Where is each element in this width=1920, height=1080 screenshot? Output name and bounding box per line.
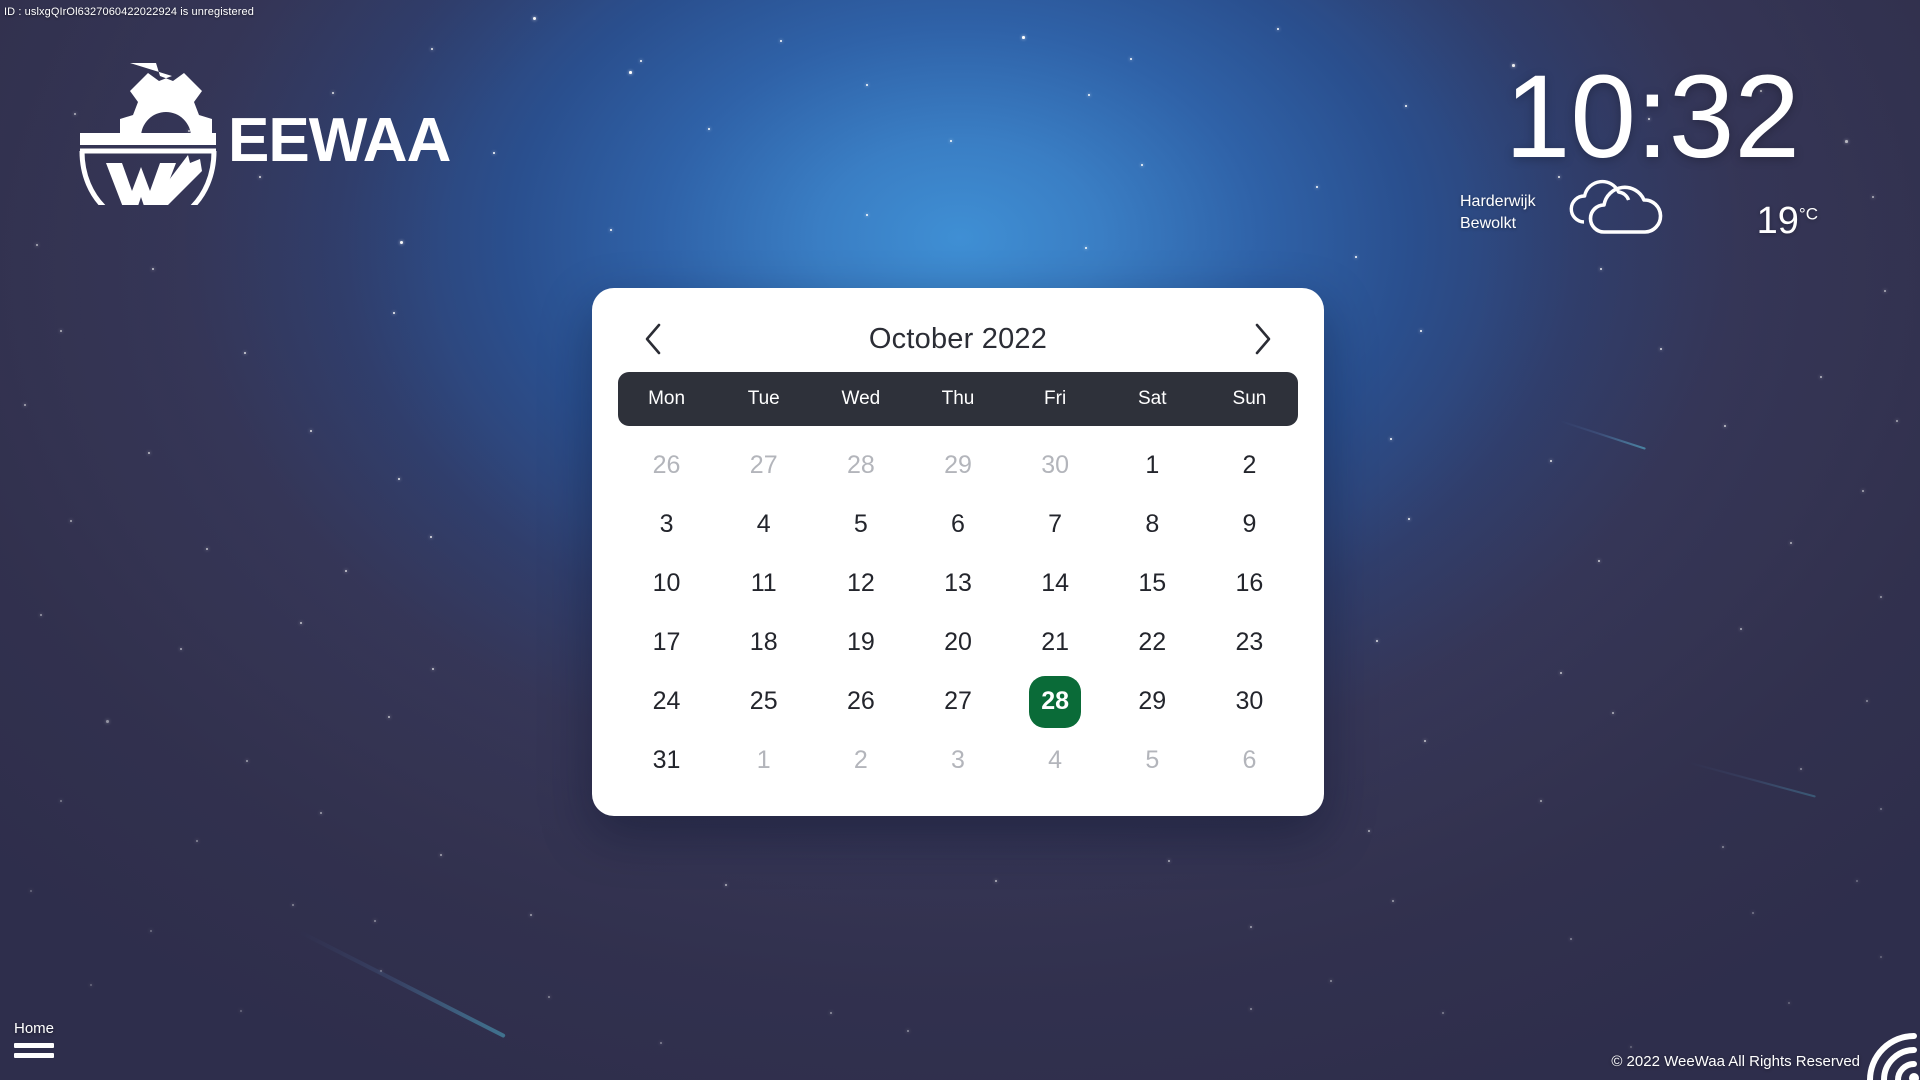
calendar-day-label: 14 (1029, 558, 1081, 610)
calendar-day-label: 26 (641, 440, 693, 492)
calendar-day-label: 29 (1126, 676, 1178, 728)
chevron-right-icon (1252, 322, 1274, 356)
shooting-star (1690, 762, 1816, 798)
weekday-sat: Sat (1104, 388, 1201, 410)
weekday-wed: Wed (812, 388, 909, 410)
star (152, 268, 154, 270)
star (320, 812, 322, 814)
registration-notice: ID : uslxgQIrOl6327060422022924 is unreg… (4, 6, 254, 18)
star (180, 648, 182, 650)
calendar-day-label: 30 (1029, 440, 1081, 492)
calendar-day[interactable]: 3 (909, 731, 1006, 790)
calendar-day[interactable]: 7 (1007, 495, 1104, 554)
star (431, 48, 433, 50)
star (1845, 140, 1848, 143)
star (1740, 628, 1742, 630)
brand-logo: EEWAA (68, 55, 450, 205)
calendar-day-label: 31 (641, 735, 693, 787)
calendar-day[interactable]: 2 (1201, 436, 1298, 495)
star (629, 71, 632, 74)
star (1368, 830, 1370, 832)
star (1660, 348, 1662, 350)
star (1330, 980, 1332, 982)
star (548, 996, 550, 998)
calendar-day-label: 15 (1126, 558, 1178, 610)
star (432, 668, 434, 670)
copyright-text: © 2022 WeeWaa All Rights Reserved (1611, 1053, 1860, 1070)
star (1355, 256, 1357, 258)
star (907, 1030, 909, 1032)
clock-weather-widget: 10:32 Harderwijk Bewolkt 19°C (1460, 58, 1800, 260)
calendar-day[interactable]: 4 (1007, 731, 1104, 790)
star (950, 140, 952, 142)
star (1088, 94, 1090, 96)
calendar-day-label: 8 (1126, 499, 1178, 551)
calendar-day-label: 10 (641, 558, 693, 610)
star (1316, 186, 1318, 188)
calendar-day-label: 2 (1223, 440, 1275, 492)
star (400, 241, 403, 244)
star (1390, 438, 1392, 440)
star (610, 229, 612, 231)
calendar-weekday-header: MonTueWedThuFriSatSun (618, 372, 1298, 426)
calendar-day[interactable]: 20 (909, 613, 1006, 672)
calendar-day[interactable]: 17 (618, 613, 715, 672)
calendar-day[interactable]: 30 (1201, 672, 1298, 731)
calendar-day-label: 5 (835, 499, 887, 551)
calendar-day[interactable]: 18 (715, 613, 812, 672)
star (374, 920, 376, 922)
star (90, 984, 92, 986)
calendar-day[interactable]: 10 (618, 554, 715, 613)
calendar-day[interactable]: 29 (1104, 672, 1201, 731)
star (1790, 542, 1792, 544)
star (493, 152, 495, 154)
weekday-mon: Mon (618, 388, 715, 410)
star (1376, 640, 1378, 642)
calendar-day-label: 16 (1223, 558, 1275, 610)
star (1141, 164, 1143, 166)
calendar-day-label: 1 (1126, 440, 1178, 492)
calendar-day-label: 30 (1223, 676, 1275, 728)
calendar-day[interactable]: 16 (1201, 554, 1298, 613)
calendar-day-grid: 2627282930123456789101112131415161718192… (618, 436, 1298, 790)
calendar-day[interactable]: 5 (1104, 731, 1201, 790)
star (393, 312, 395, 314)
calendar-day-label: 28 (835, 440, 887, 492)
calendar-day-label: 1 (738, 735, 790, 787)
calendar-day[interactable]: 6 (1201, 731, 1298, 790)
calendar-day[interactable]: 15 (1104, 554, 1201, 613)
star (244, 352, 246, 354)
wifi-dot (1909, 1073, 1919, 1080)
temperature-unit: °C (1799, 204, 1818, 223)
star (1884, 290, 1886, 292)
star (1560, 672, 1562, 674)
menu-bar-line-1 (14, 1043, 54, 1048)
star (1022, 36, 1025, 39)
star (310, 430, 312, 432)
star (36, 244, 38, 246)
star (388, 716, 390, 718)
star (398, 478, 400, 480)
menu-bar-line-2 (14, 1053, 54, 1058)
clock-time: 10:32 (1460, 58, 1800, 176)
brand-wordmark: EEWAA (228, 110, 450, 172)
calendar-day[interactable]: 14 (1007, 554, 1104, 613)
star (1896, 420, 1898, 422)
calendar-day-label: 6 (1223, 735, 1275, 787)
star (1392, 900, 1394, 902)
star (1550, 460, 1552, 462)
calendar-day[interactable]: 26 (618, 436, 715, 495)
calendar-next-month-button[interactable] (1242, 318, 1284, 360)
calendar-day-label: 24 (641, 676, 693, 728)
calendar-day[interactable]: 25 (715, 672, 812, 731)
star (660, 1042, 662, 1044)
calendar-title: October 2022 (869, 323, 1047, 356)
shooting-star (1560, 420, 1646, 450)
star (1598, 560, 1600, 562)
calendar-day[interactable]: 6 (909, 495, 1006, 554)
star (1880, 596, 1882, 598)
home-menu-button[interactable]: Home (14, 1019, 54, 1059)
star (1866, 700, 1868, 702)
calendar-day-label: 6 (932, 499, 984, 551)
star (150, 930, 152, 932)
weewaa-gear-logo-icon (68, 55, 228, 205)
temperature-value: 19 (1757, 200, 1799, 242)
calendar-day[interactable]: 5 (812, 495, 909, 554)
calendar-prev-month-button[interactable] (632, 318, 674, 360)
calendar-day[interactable]: 22 (1104, 613, 1201, 672)
calendar-day[interactable]: 12 (812, 554, 909, 613)
star (1442, 1012, 1444, 1014)
calendar-day[interactable]: 21 (1007, 613, 1104, 672)
calendar-day-label: 23 (1223, 617, 1275, 669)
calendar-day-label: 12 (835, 558, 887, 610)
star (300, 622, 302, 624)
star (780, 40, 782, 42)
calendar-day-label: 21 (1029, 617, 1081, 669)
calendar-day-label: 4 (738, 499, 790, 551)
star (1752, 912, 1754, 914)
calendar-day-selected[interactable]: 28 (1007, 672, 1104, 731)
calendar-day[interactable]: 13 (909, 554, 1006, 613)
star (40, 614, 42, 616)
calendar-day-label: 9 (1223, 499, 1275, 551)
star (1168, 860, 1170, 862)
calendar-day[interactable]: 27 (715, 436, 812, 495)
calendar-day-label: 28 (1029, 676, 1081, 728)
calendar-day[interactable]: 19 (812, 613, 909, 672)
calendar-day-label: 5 (1126, 735, 1178, 787)
weather-temperature: 19°C (1757, 200, 1818, 243)
calendar-day-label: 25 (738, 676, 790, 728)
weekday-tue: Tue (715, 388, 812, 410)
wifi-signal-icon[interactable] (1862, 1028, 1920, 1080)
calendar-day[interactable]: 30 (1007, 436, 1104, 495)
star (1800, 768, 1802, 770)
star (1788, 1002, 1790, 1004)
calendar-day-label: 18 (738, 617, 790, 669)
cloudy-icon (1566, 164, 1674, 244)
star (640, 60, 642, 62)
calendar-day[interactable]: 11 (715, 554, 812, 613)
star (24, 404, 26, 406)
star (533, 17, 536, 20)
star (1540, 800, 1542, 802)
calendar-day[interactable]: 2 (812, 731, 909, 790)
calendar-day-label: 20 (932, 617, 984, 669)
star (440, 854, 442, 856)
star (1277, 28, 1279, 30)
star (206, 548, 208, 550)
star (1612, 712, 1614, 714)
calendar-day-label: 29 (932, 440, 984, 492)
star (1420, 330, 1422, 332)
star (866, 84, 868, 86)
star (60, 800, 62, 802)
star (1424, 740, 1426, 742)
calendar-day[interactable]: 3 (618, 495, 715, 554)
star (708, 128, 710, 130)
calendar-day-label: 11 (738, 558, 790, 610)
calendar-day-label: 17 (641, 617, 693, 669)
calendar-day[interactable]: 26 (812, 672, 909, 731)
weather-condition: Bewolkt (1460, 212, 1516, 237)
star (1408, 518, 1410, 520)
star (1630, 1046, 1632, 1048)
star (995, 880, 997, 882)
calendar-day-label: 19 (835, 617, 887, 669)
star (30, 890, 32, 892)
calendar-day[interactable]: 29 (909, 436, 1006, 495)
star (70, 520, 72, 522)
calendar-day-label: 27 (738, 440, 790, 492)
calendar-card: October 2022 MonTueWedThuFriSatSun 26272… (592, 288, 1324, 816)
calendar-day-label: 22 (1126, 617, 1178, 669)
star (1250, 1008, 1252, 1010)
calendar-day[interactable]: 31 (618, 731, 715, 790)
calendar-day[interactable]: 8 (1104, 495, 1201, 554)
weather-row: Harderwijk Bewolkt 19°C (1460, 182, 1800, 260)
star (1570, 938, 1572, 940)
calendar-day[interactable]: 24 (618, 672, 715, 731)
star (1724, 425, 1726, 427)
calendar-day[interactable]: 27 (909, 672, 1006, 731)
star (1085, 247, 1087, 249)
star (430, 536, 432, 538)
star (1872, 196, 1874, 198)
star (196, 840, 198, 842)
calendar-day-label: 2 (835, 735, 887, 787)
calendar-day[interactable]: 1 (715, 731, 812, 790)
star (292, 904, 294, 906)
weekday-thu: Thu (909, 388, 1006, 410)
star (1856, 880, 1858, 882)
star (830, 1012, 832, 1014)
star (1405, 105, 1407, 107)
star (1250, 926, 1252, 928)
star (148, 452, 150, 454)
star (106, 720, 109, 723)
star (60, 330, 62, 332)
calendar-day-label: 7 (1029, 499, 1081, 551)
calendar-day-label: 3 (932, 735, 984, 787)
home-label: Home (14, 1019, 54, 1039)
calendar-day[interactable]: 1 (1104, 436, 1201, 495)
calendar-day[interactable]: 4 (715, 495, 812, 554)
calendar-day-label: 13 (932, 558, 984, 610)
calendar-day[interactable]: 28 (812, 436, 909, 495)
calendar-day-label: 27 (932, 676, 984, 728)
star (1862, 490, 1864, 492)
star (246, 760, 248, 762)
weekday-fri: Fri (1007, 388, 1104, 410)
calendar-day[interactable]: 9 (1201, 495, 1298, 554)
star (1880, 956, 1882, 958)
star (866, 214, 868, 216)
star (240, 1010, 242, 1012)
shooting-star (299, 930, 506, 1038)
star (1600, 268, 1602, 270)
weekday-sun: Sun (1201, 388, 1298, 410)
desktop-screen: ID : uslxgQIrOl6327060422022924 is unreg… (0, 0, 1920, 1080)
star (345, 570, 347, 572)
calendar-day-label: 3 (641, 499, 693, 551)
calendar-day[interactable]: 23 (1201, 613, 1298, 672)
star (1130, 58, 1132, 60)
calendar-header: October 2022 (618, 306, 1298, 372)
star (1820, 376, 1822, 378)
star (530, 914, 532, 916)
star (1880, 808, 1882, 810)
calendar-day-label: 4 (1029, 735, 1081, 787)
calendar-day-label: 26 (835, 676, 887, 728)
chevron-left-icon (642, 322, 664, 356)
star (725, 884, 727, 886)
star (1722, 846, 1724, 848)
